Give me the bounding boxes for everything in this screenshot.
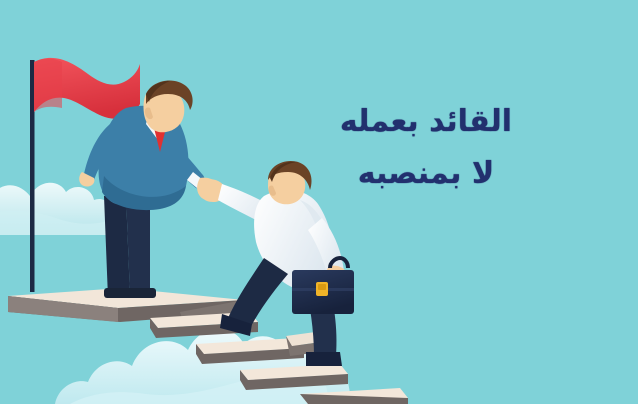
leader-back-leg [104,196,130,298]
caption-line-1: القائد بعمله [276,96,576,148]
caption-line-2: لا بمنصبه [276,148,576,200]
climber-front-shoe [306,352,342,366]
poster-canvas: القائد بعمله لا بمنصبه [0,0,638,404]
illustration-scene [0,0,638,404]
caption-block: القائد بعمله لا بمنصبه [276,96,576,200]
